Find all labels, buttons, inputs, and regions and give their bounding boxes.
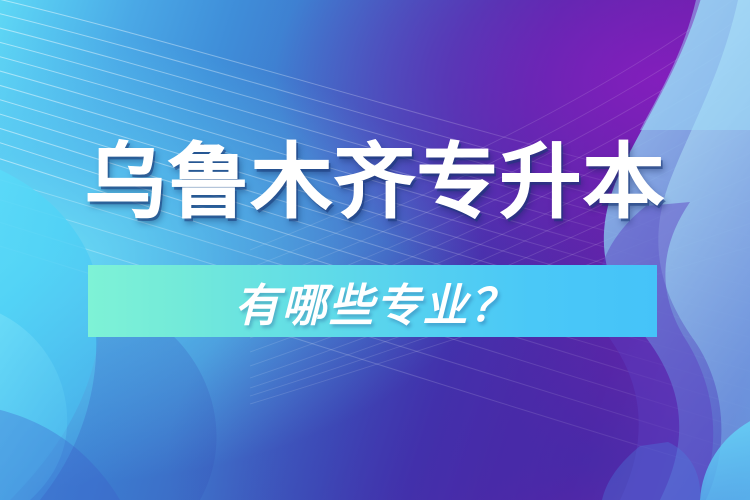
- subheadline-band: 有哪些专业？: [88, 265, 657, 337]
- subheadline-text: 有哪些专业？: [88, 265, 657, 337]
- decorative-wave-shapes: [0, 0, 750, 500]
- promo-banner: 乌鲁木齐专升本 有哪些专业？: [0, 0, 750, 500]
